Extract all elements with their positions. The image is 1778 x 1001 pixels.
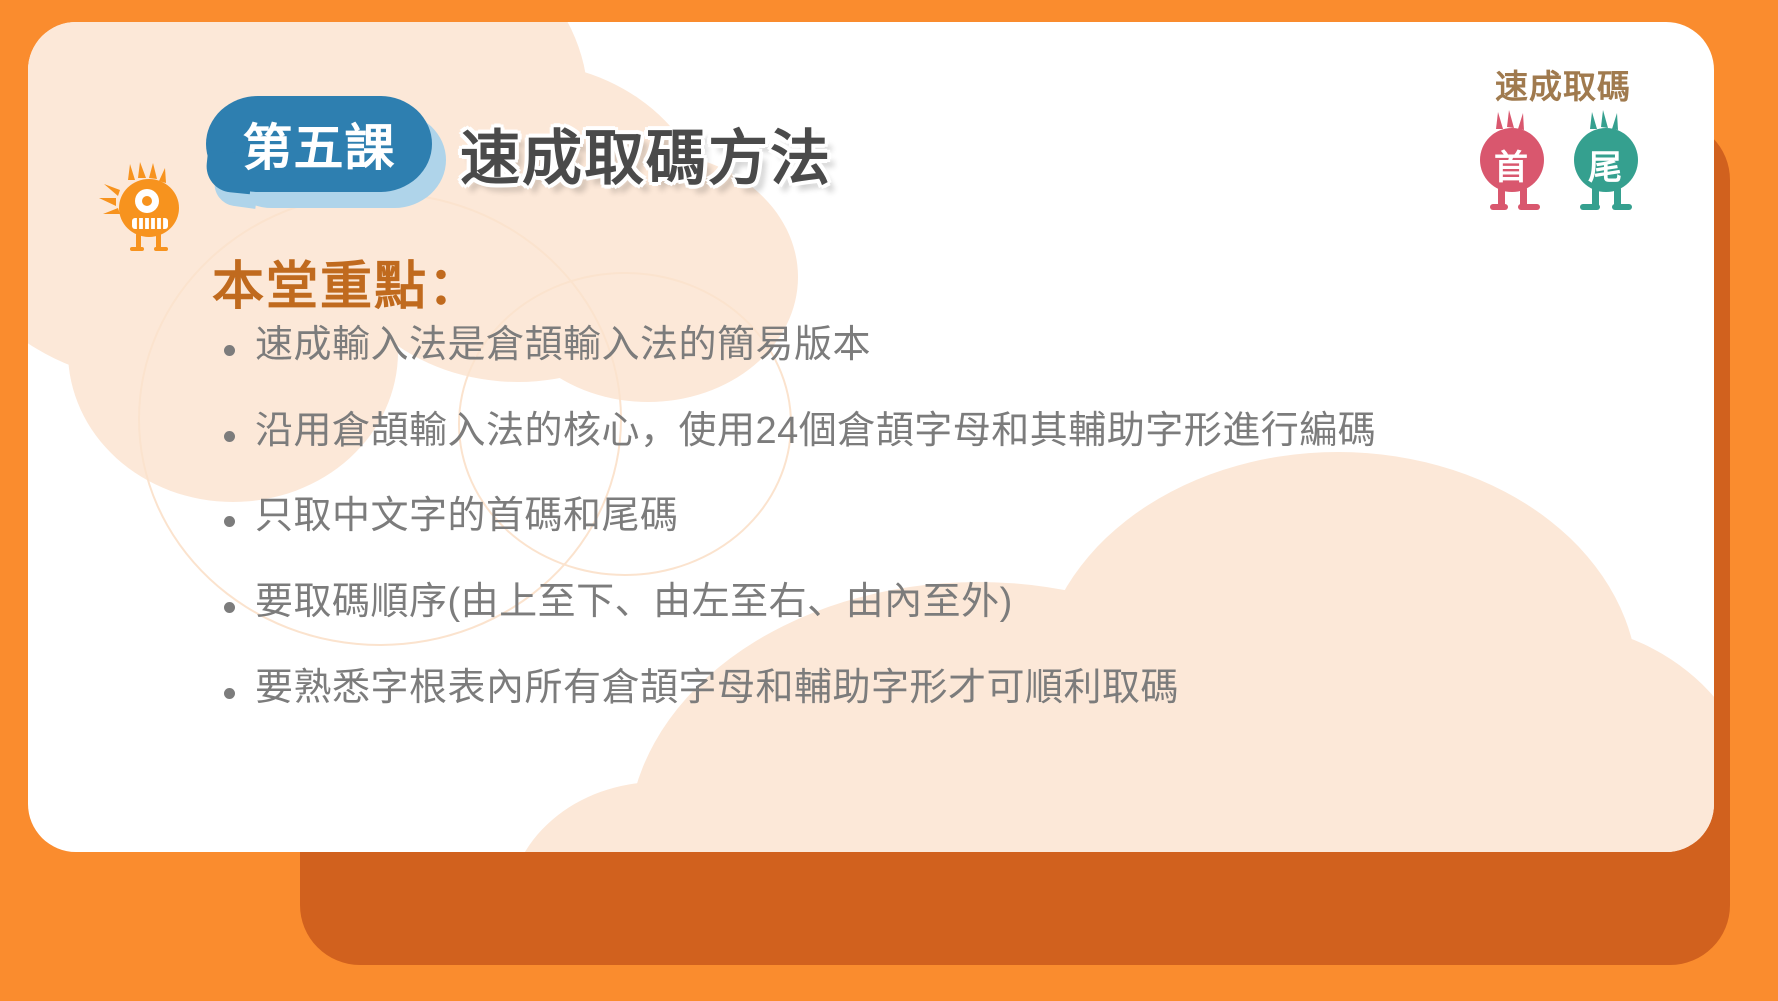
slide-card: 第五課 速成取碼方法 本堂重點： 速成輸入法是倉頡輸入法的簡易版本 沿用倉頡輸入…	[28, 22, 1714, 852]
brand-logo-title: 速成取碼	[1468, 60, 1658, 108]
section-heading: 本堂重點：	[212, 244, 482, 319]
pink-monster-label: 首	[1494, 140, 1528, 189]
bullet-dot-icon	[224, 602, 235, 613]
bullet-dot-icon	[224, 688, 235, 699]
list-item-text: 沿用倉頡輸入法的核心，使用24個倉頡字母和其輔助字形進行編碼	[255, 410, 1376, 454]
bullet-dot-icon	[224, 516, 235, 527]
list-item-text: 只取中文字的首碼和尾碼	[255, 495, 679, 539]
bullet-dot-icon	[224, 431, 235, 442]
list-item: 只取中文字的首碼和尾碼	[224, 495, 1644, 539]
list-item: 要熟悉字根表內所有倉頡字母和輔助字形才可順利取碼	[224, 667, 1644, 711]
monster-mascot-icon	[94, 156, 194, 256]
teal-monster-label: 尾	[1588, 140, 1622, 189]
list-item-text: 要熟悉字根表內所有倉頡字母和輔助字形才可順利取碼	[255, 667, 1179, 711]
slide-root: 第五課 速成取碼方法 本堂重點： 速成輸入法是倉頡輸入法的簡易版本 沿用倉頡輸入…	[0, 0, 1778, 1001]
brand-logo-figures: 首 尾	[1468, 102, 1658, 220]
bullet-dot-icon	[224, 345, 235, 356]
list-item-text: 要取碼順序(由上至下、由左至右、由內至外)	[255, 581, 1013, 625]
lesson-badge-label: 第五課	[206, 96, 432, 192]
list-item: 速成輸入法是倉頡輸入法的簡易版本	[224, 324, 1644, 368]
page-title: 速成取碼方法	[460, 110, 832, 197]
list-item: 沿用倉頡輸入法的核心，使用24個倉頡字母和其輔助字形進行編碼	[224, 410, 1644, 454]
brand-logo: 速成取碼	[1468, 60, 1658, 220]
key-points-list: 速成輸入法是倉頡輸入法的簡易版本 沿用倉頡輸入法的核心，使用24個倉頡字母和其輔…	[224, 324, 1644, 752]
list-item: 要取碼順序(由上至下、由左至右、由內至外)	[224, 581, 1644, 625]
decor-cloud-blob	[508, 782, 808, 852]
list-item-text: 速成輸入法是倉頡輸入法的簡易版本	[255, 324, 871, 368]
lesson-badge: 第五課	[206, 96, 446, 208]
